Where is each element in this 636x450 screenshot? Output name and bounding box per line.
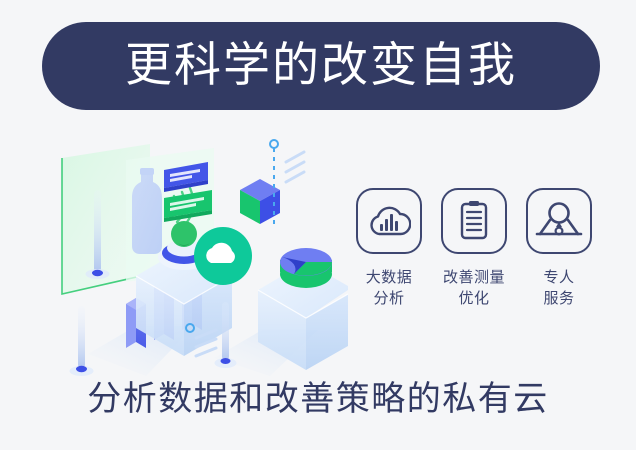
feature-label-measurement: 改善测量 优化 [443,267,505,309]
motion-strokes-right [286,152,304,182]
cloud-bar-chart-icon [356,188,422,254]
feature-label-line2: 分析 [366,288,413,309]
feature-label-line1: 专人 [543,267,574,288]
pie-chart-3d [280,248,332,288]
clipboard-icon [441,188,507,254]
feature-label-line1: 大数据 [366,267,413,288]
feature-item-support[interactable]: 专人 服务 [522,188,596,309]
cloud-badge-icon [194,227,252,285]
feature-item-big-data[interactable]: 大数据 分析 [352,188,426,309]
hero-illustration [18,126,348,376]
feature-list: 大数据 分析 改善测量 优化 [352,188,596,309]
feature-item-measurement[interactable]: 改善测量 优化 [437,188,511,309]
tagline-text: 分析数据和改善策略的私有云 [0,382,636,416]
feature-label-line2: 服务 [543,288,574,309]
feature-label-line2: 优化 [443,288,505,309]
headline-banner: 更科学的改变自我 [42,22,600,110]
support-agent-icon [526,188,592,254]
promo-poster: 更科学的改变自我 [0,0,636,450]
feature-label-line1: 改善测量 [443,267,505,288]
feature-label-big-data: 大数据 分析 [366,267,413,309]
headline-text: 更科学的改变自我 [125,41,517,91]
feature-label-support: 专人 服务 [543,267,574,309]
light-pillar-mid [70,306,94,376]
